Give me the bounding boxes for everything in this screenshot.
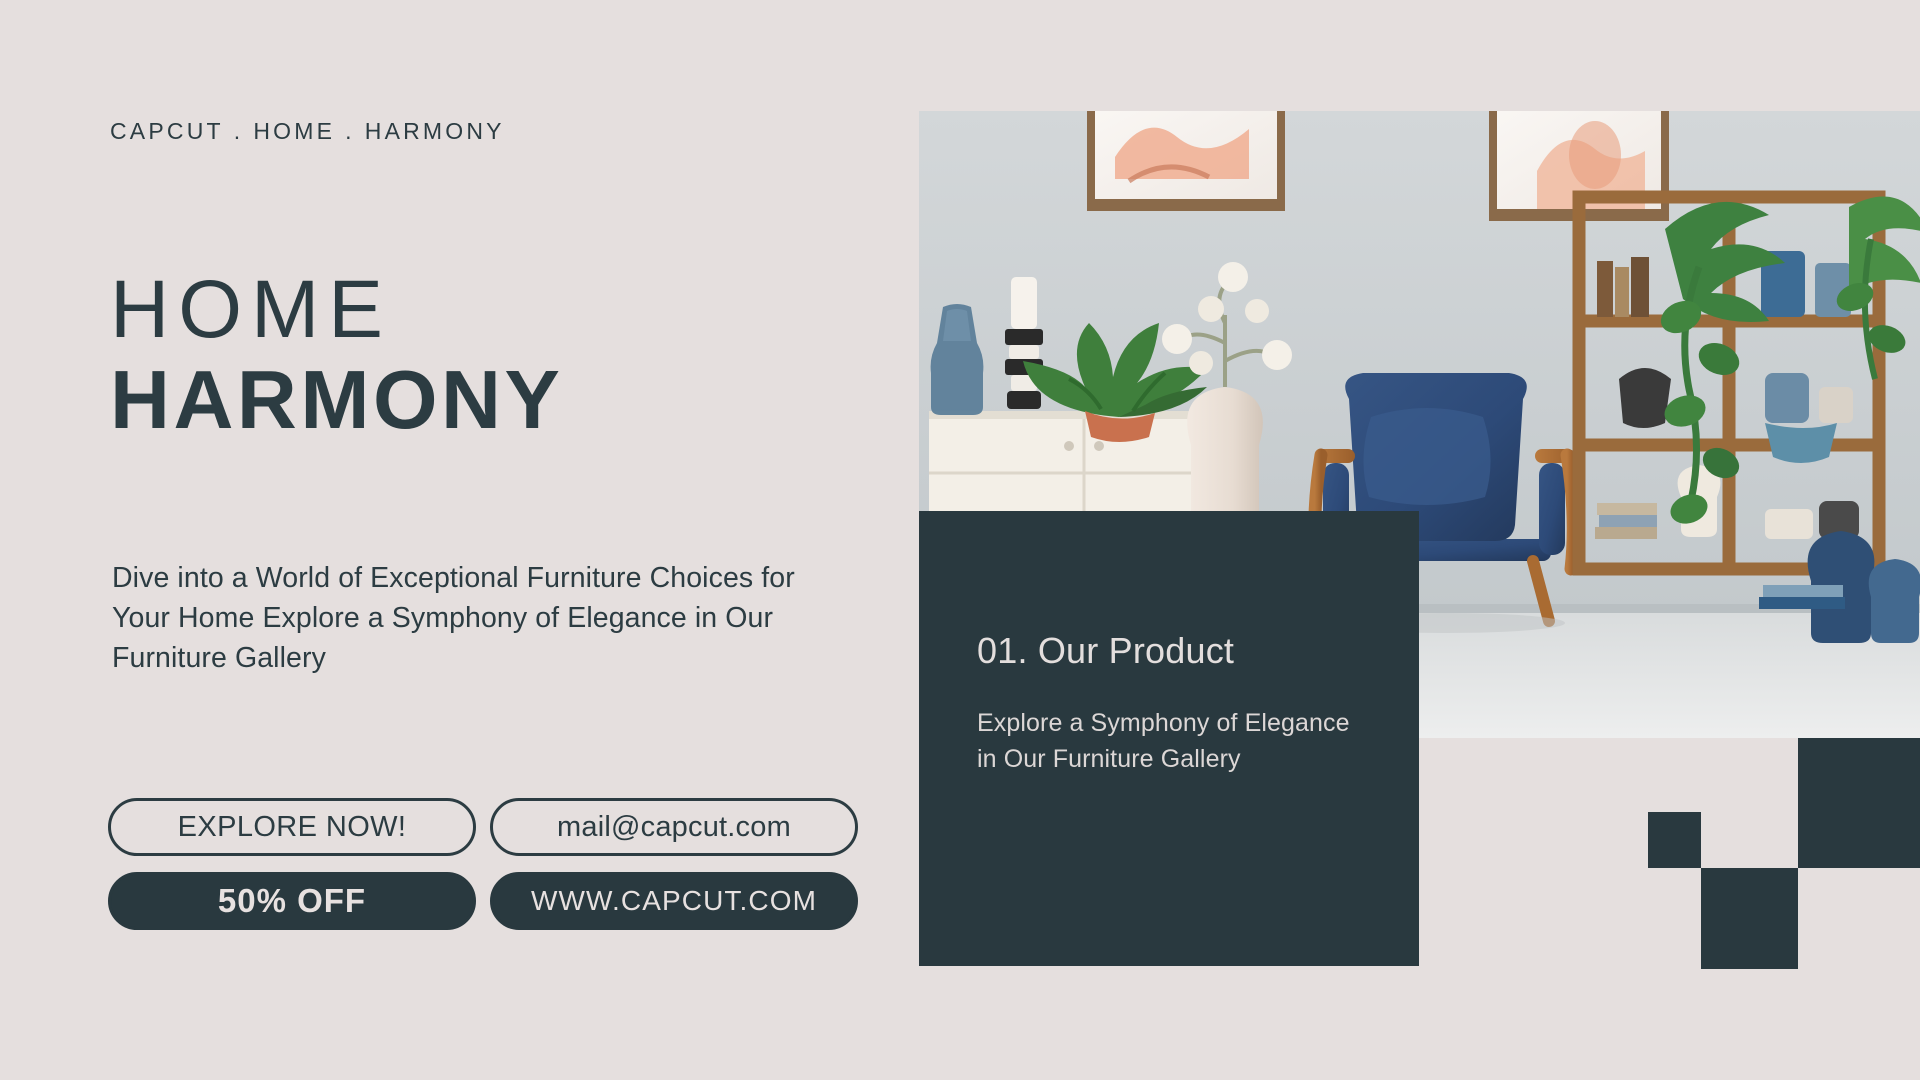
page-title: HOME HARMONY xyxy=(110,268,563,443)
product-highlight-title: 01. Our Product xyxy=(977,629,1367,672)
page-title-line-2: HARMONY xyxy=(110,356,563,443)
breadcrumb-separator-2: . xyxy=(335,118,365,145)
website-button[interactable]: WWW.CAPCUT.COM xyxy=(490,872,858,930)
cta-row-primary: EXPLORE NOW! mail@capcut.com xyxy=(108,798,858,856)
breadcrumb-item-harmony[interactable]: HARMONY xyxy=(365,118,505,144)
breadcrumb-item-home[interactable]: HOME xyxy=(253,118,335,144)
product-highlight-description: Explore a Symphony of Elegance in Our Fu… xyxy=(977,706,1357,777)
breadcrumb-separator-1: . xyxy=(224,118,254,145)
cta-row-secondary: 50% OFF WWW.CAPCUT.COM xyxy=(108,872,858,930)
breadcrumb: CAPCUT.HOME.HARMONY xyxy=(110,118,505,145)
email-button[interactable]: mail@capcut.com xyxy=(490,798,858,856)
breadcrumb-item-capcut[interactable]: CAPCUT xyxy=(110,118,224,144)
hero-description: Dive into a World of Exceptional Furnitu… xyxy=(112,558,842,679)
cta-button-group: EXPLORE NOW! mail@capcut.com 50% OFF WWW… xyxy=(108,798,858,930)
discount-badge-button[interactable]: 50% OFF xyxy=(108,872,476,930)
checker-square-center-bottom xyxy=(1701,868,1798,969)
checker-square-large-right xyxy=(1798,738,1920,868)
page-title-line-1: HOME xyxy=(110,268,563,352)
product-highlight-card: 01. Our Product Explore a Symphony of El… xyxy=(919,511,1419,966)
poster-canvas: CAPCUT.HOME.HARMONY HOME HARMONY Dive in… xyxy=(0,0,1920,1080)
explore-now-button[interactable]: EXPLORE NOW! xyxy=(108,798,476,856)
checker-square-small-left xyxy=(1648,812,1701,868)
